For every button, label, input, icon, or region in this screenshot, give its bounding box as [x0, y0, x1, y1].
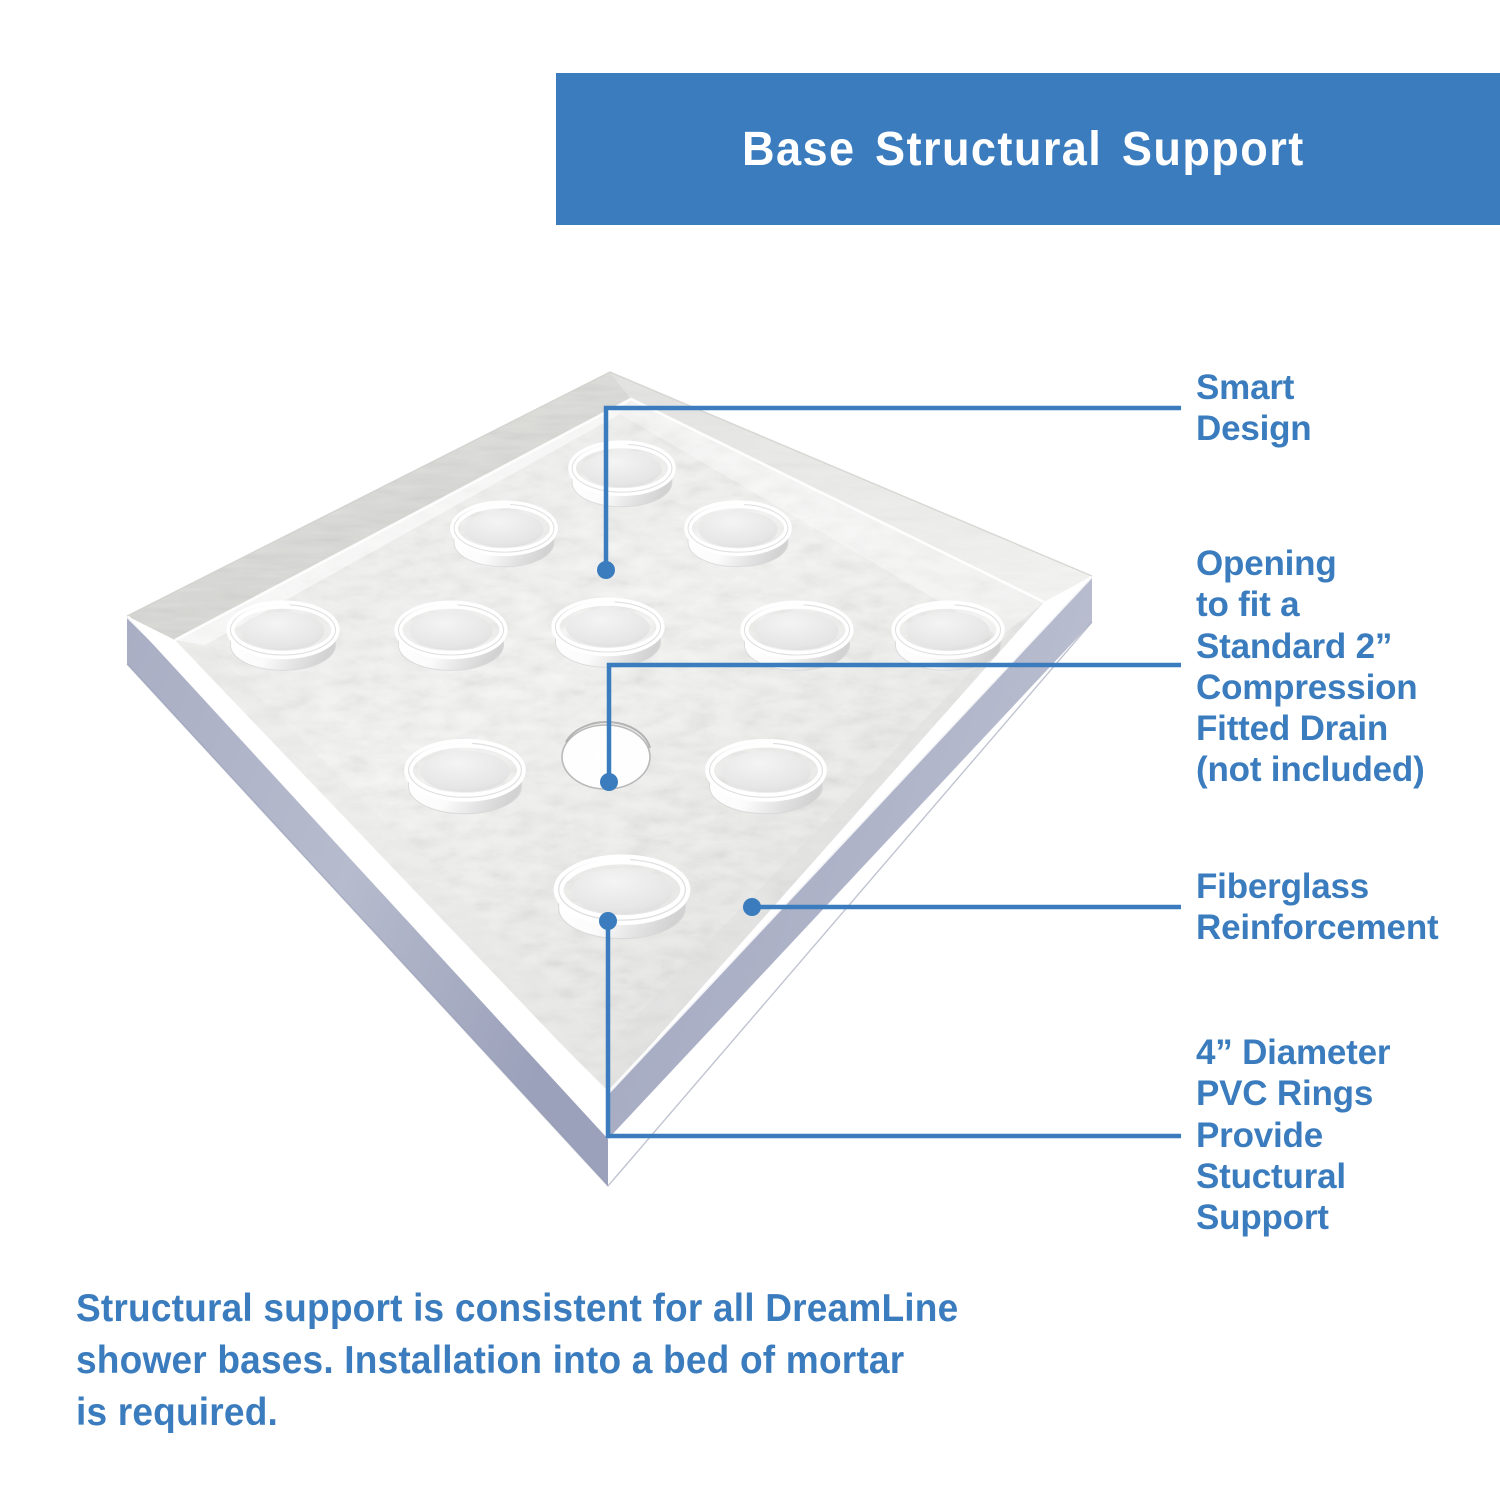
outer-top-edge-line	[127, 372, 1092, 616]
pvc-ring	[559, 859, 686, 938]
pvc-ring	[744, 605, 849, 671]
base-side-wall-right	[608, 576, 1092, 1139]
bottom-edge-line	[127, 622, 1092, 1186]
base-inner-lip-northwest	[127, 372, 631, 640]
callout-label-pvc-rings: 4” Diameter PVC Rings Provide Stuctural …	[1196, 1032, 1390, 1238]
base-side-wall-left	[127, 616, 608, 1186]
floor-slope-shading-right	[620, 399, 1044, 637]
base-inner-lip-northeast	[610, 372, 1092, 602]
pvc-ring	[555, 602, 660, 668]
drain-opening	[562, 722, 650, 789]
pvc-ring	[572, 444, 672, 506]
leader-dot-fiberglass	[743, 898, 761, 916]
front-edge-highlight	[127, 576, 1092, 1093]
pvc-ring	[688, 504, 788, 566]
floor-slope-shading-front-left	[175, 640, 608, 1093]
leader-line-smart-design	[606, 408, 1181, 570]
leader-dot-drain-opening	[600, 773, 618, 791]
callout-label-fiberglass-reinforcement: Fiberglass Reinforcement	[1196, 866, 1438, 949]
floor-slope-shading-front-right	[608, 602, 1044, 1093]
callout-label-smart-design: Smart Design	[1196, 367, 1312, 450]
base-rim-northwest	[127, 372, 631, 640]
leader-line-drain-opening	[609, 665, 1181, 782]
leader-line-pvc-rings	[608, 921, 1181, 1136]
fiberglass-pan-floor	[175, 399, 1044, 1093]
shower-base-body	[127, 372, 1092, 1186]
footer-caption: Structural support is consistent for all…	[76, 1283, 960, 1439]
pvc-ring	[409, 743, 522, 814]
pvc-ring	[454, 504, 554, 566]
leader-dot-smart-design	[597, 561, 615, 579]
pvc-ring	[895, 605, 1000, 671]
pvc-ring	[230, 605, 335, 671]
pvc-ring	[710, 743, 823, 814]
pvc-ring	[398, 605, 503, 671]
floor-slope-shading-left	[175, 399, 631, 645]
header-banner: Base Structural Support	[556, 73, 1500, 225]
callout-label-drain-opening: Opening to fit a Standard 2” Compression…	[1196, 543, 1425, 791]
base-rim-northeast	[610, 372, 1092, 602]
pvc-support-rings	[230, 444, 1000, 938]
page-title: Base Structural Support	[742, 122, 1305, 177]
callout-leader-dots	[597, 561, 761, 930]
leader-dot-pvc-rings	[599, 912, 617, 930]
inner-lip-highlight	[175, 399, 1044, 640]
callout-leader-lines	[606, 408, 1181, 1136]
